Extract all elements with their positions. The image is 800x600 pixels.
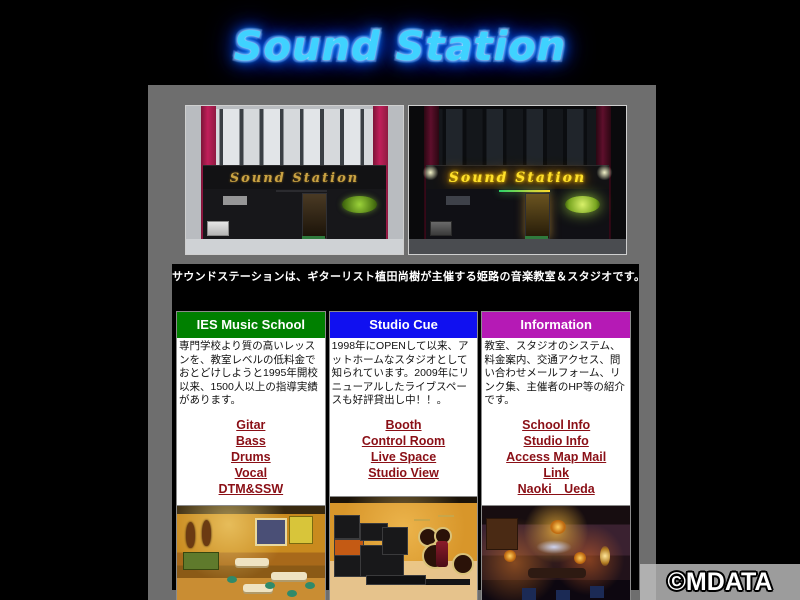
air-conditioner-unit xyxy=(207,221,229,236)
cue-logo-sign xyxy=(342,196,377,213)
table-lamp xyxy=(574,552,586,564)
shelf xyxy=(486,518,518,550)
facade-light-left xyxy=(422,165,439,180)
column-header-ies-music-school[interactable]: IES Music School xyxy=(177,312,325,338)
site-title-banner: Sound Station xyxy=(0,22,800,84)
column-link-list: Booth Control Room Live Space Studio Vie… xyxy=(330,411,478,496)
building-entrance-door xyxy=(302,193,328,239)
floor-lamp xyxy=(600,546,610,566)
cue-logo-sign xyxy=(565,196,600,213)
column-photo-lounge-room[interactable] xyxy=(177,505,325,600)
sidewalk xyxy=(409,239,626,254)
stool xyxy=(305,582,315,589)
link-drums[interactable]: Drums xyxy=(177,449,325,465)
column-studio-cue: Studio Cue 1998年にOPENして以来、アットホームなスタジオとして… xyxy=(329,311,479,600)
link-gitar[interactable]: Gitar xyxy=(177,417,325,433)
link-school-info[interactable]: School Info xyxy=(482,417,630,433)
column-photo-live-space[interactable] xyxy=(482,505,630,600)
link-bass[interactable]: Bass xyxy=(177,433,325,449)
column-header-studio-cue[interactable]: Studio Cue xyxy=(330,312,478,338)
keyboard-stand xyxy=(426,579,470,585)
building-entrance-door xyxy=(525,193,551,239)
table xyxy=(271,572,307,580)
link-access-map-mail[interactable]: Access Map Mail xyxy=(482,449,630,465)
facade-light-right xyxy=(596,165,613,180)
keyboard xyxy=(366,575,426,585)
amplifier xyxy=(382,527,408,555)
link-studio-info[interactable]: Studio Info xyxy=(482,433,630,449)
stool xyxy=(265,582,275,589)
stool xyxy=(287,590,297,597)
column-link-list: School Info Studio Info Access Map Mail … xyxy=(482,411,630,505)
building-sign-band: Sound Station xyxy=(426,165,608,190)
floor-tom xyxy=(452,553,474,575)
watermark-text: ©MDATA xyxy=(668,568,773,597)
ceiling-lamp xyxy=(550,520,566,534)
building-upper-windows xyxy=(203,109,385,165)
cymbal xyxy=(438,515,454,517)
column-ies-music-school: IES Music School 専門学校より質の高いレッスンを、教室レベルの低… xyxy=(176,311,326,600)
building-name-plate xyxy=(446,196,470,205)
chair xyxy=(556,590,570,600)
table-lamp xyxy=(504,550,516,562)
storefront-photo-row: Sound Station Sound Station xyxy=(185,105,627,255)
storefront-sign-text: Sound Station xyxy=(426,166,608,190)
category-columns: IES Music School 専門学校より質の高いレッスンを、教室レベルの低… xyxy=(176,311,631,600)
sidewalk xyxy=(186,239,403,254)
link-dtm-ssw[interactable]: DTM&SSW xyxy=(177,481,325,497)
column-information: Information 教室、スタジオのシステム、料金案内、交通アクセス、問い合… xyxy=(481,311,631,600)
link-naoki-ueda[interactable]: Naoki Ueda xyxy=(482,481,630,497)
building-name-plate xyxy=(223,196,247,205)
link-live-space[interactable]: Live Space xyxy=(330,449,478,465)
link-booth[interactable]: Booth xyxy=(330,417,478,433)
page-root: Sound Station Sound Station xyxy=(0,0,800,600)
link-link[interactable]: Link xyxy=(482,465,630,481)
air-conditioner-unit xyxy=(430,221,452,236)
column-description: 教室、スタジオのシステム、料金案内、交通アクセス、問い合わせメールフォーム、リン… xyxy=(482,338,630,411)
storefront-day-photo: Sound Station xyxy=(185,105,404,255)
table xyxy=(235,558,269,566)
building-sign-band: Sound Station xyxy=(203,165,385,190)
storefront-night-photo: Sound Station xyxy=(408,105,627,255)
stage-light xyxy=(536,540,572,554)
building-lower-facade xyxy=(426,189,608,239)
cymbal xyxy=(414,519,430,521)
amplifier xyxy=(334,515,360,539)
column-description: 1998年にOPENして以来、アットホームなスタジオとして知られています。200… xyxy=(330,338,478,411)
building-upper-windows xyxy=(426,109,608,165)
column-header-information[interactable]: Information xyxy=(482,312,630,338)
column-photo-studio-room[interactable] xyxy=(330,496,478,600)
building-lower-facade xyxy=(203,189,385,239)
stool xyxy=(227,576,237,583)
wall-guitar-icon xyxy=(202,520,211,546)
wall-poster xyxy=(289,516,313,544)
column-description: 専門学校より質の高いレッスンを、教室レベルの低料金でおとどけしようと1995年開… xyxy=(177,338,325,411)
conga-drum xyxy=(436,541,448,567)
link-control-room[interactable]: Control Room xyxy=(330,433,478,449)
table xyxy=(528,568,586,578)
page-title: Sound Station xyxy=(220,22,581,76)
watermark-overlay: ©MDATA xyxy=(640,564,800,600)
wall-guitar-icon xyxy=(186,522,195,548)
sofa xyxy=(183,552,219,570)
chair xyxy=(590,586,604,598)
column-link-list: Gitar Bass Drums Vocal DTM&SSW xyxy=(177,411,325,505)
link-vocal[interactable]: Vocal xyxy=(177,465,325,481)
site-tagline: サウンドステーションは、ギターリスト植田尚樹が主催する姫路の音楽教室＆スタジオで… xyxy=(172,264,639,284)
storefront-sign-text: Sound Station xyxy=(203,166,385,190)
wall-board xyxy=(255,518,287,546)
chair xyxy=(522,588,536,600)
link-studio-view[interactable]: Studio View xyxy=(330,465,478,481)
